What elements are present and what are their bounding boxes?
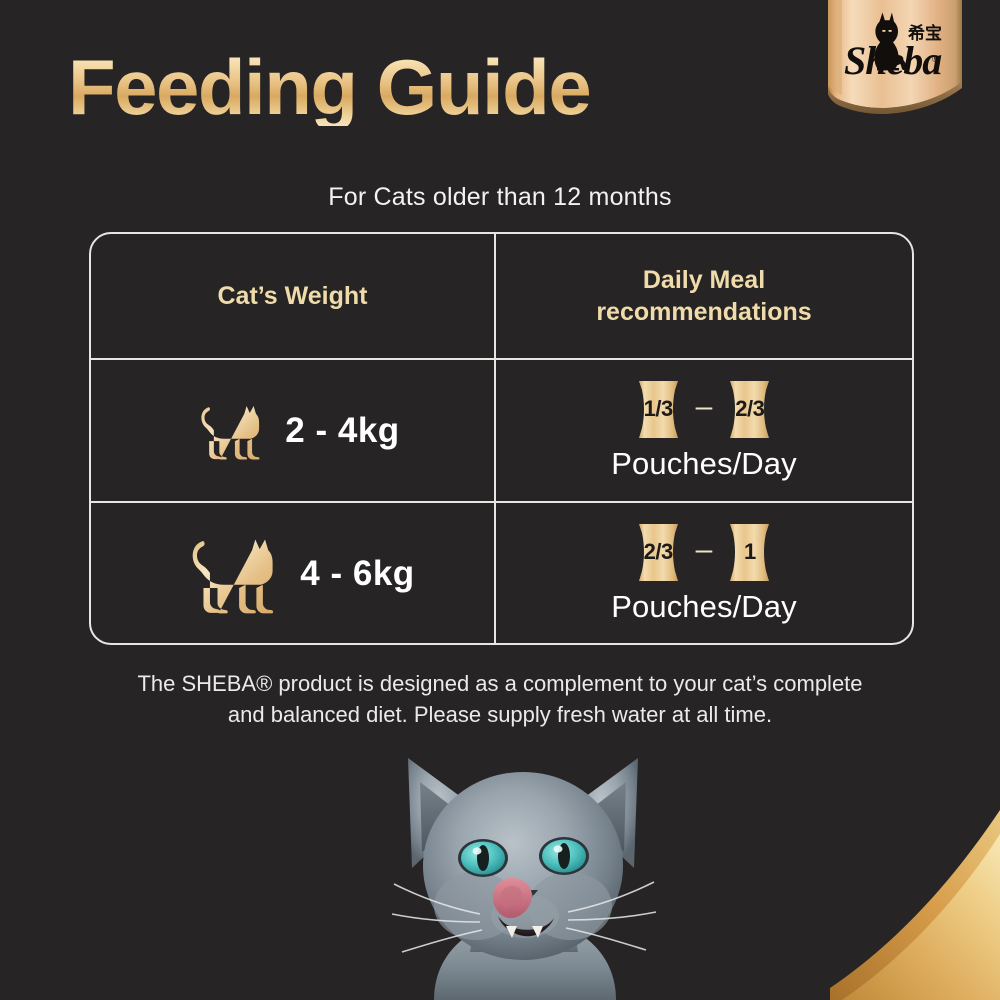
pouch-icon-max-row1: 2/3 (726, 380, 773, 439)
cell-meals-row2: 2/3 – 1 Pouches/Day (494, 503, 912, 644)
column-header-weight: Cat’s Weight (217, 280, 367, 312)
disclaimer-text: The SHEBA® product is designed as a comp… (0, 668, 1000, 730)
gold-swoosh-accent (830, 810, 1000, 1000)
pouch-label-min-row2: 2/3 (644, 539, 673, 565)
sheba-logo-banner: Sheba ® 希宝 (826, 0, 962, 120)
cat-photo (372, 738, 672, 1000)
pouch-label-min-row1: 1/3 (644, 396, 673, 422)
svg-text:Sheba: Sheba (844, 38, 942, 83)
column-header-meals-line2: recommendations (596, 296, 811, 328)
table-header-row: Cat’s Weight Daily Meal recommendations (91, 234, 912, 358)
large-cat-icon (170, 534, 278, 614)
disclaimer-line-1: The SHEBA® product is designed as a comp… (0, 668, 1000, 699)
cell-meals-row1: 1/3 – 2/3 Pouches/Day (494, 360, 912, 501)
page-subtitle: For Cats older than 12 months (0, 183, 1000, 212)
table-row: 4 - 6kg 2/3 – 1 (91, 501, 912, 644)
pouch-group-row1: 1/3 – 2/3 (635, 380, 774, 439)
feeding-table: Cat’s Weight Daily Meal recommendations (89, 232, 914, 645)
page-title: Feeding Guide (68, 48, 590, 126)
cat-eye-left (458, 839, 508, 877)
svg-text:希宝: 希宝 (908, 23, 942, 44)
cell-weight-row2: 4 - 6kg (91, 503, 494, 644)
column-header-meals-line1: Daily Meal (596, 264, 811, 296)
pouch-range-separator-row1: – (696, 392, 713, 422)
pouch-icon-min-row2: 2/3 (635, 523, 682, 582)
weight-value-row1: 2 - 4kg (285, 411, 399, 451)
column-header-meals: Daily Meal recommendations (596, 264, 811, 328)
pouch-caption-row2: Pouches/Day (611, 589, 796, 625)
pouch-group-row2: 2/3 – 1 (635, 523, 774, 582)
pouch-range-separator-row2: – (696, 535, 713, 565)
header-cell-weight: Cat’s Weight (91, 234, 494, 358)
weight-value-row2: 4 - 6kg (300, 554, 414, 594)
pouch-label-max-row2: 1 (744, 539, 756, 565)
table-row: 2 - 4kg (91, 358, 912, 501)
small-cat-icon (185, 402, 263, 460)
pouch-label-max-row1: 2/3 (735, 396, 764, 422)
sheba-logo-icon: Sheba ® 希宝 (826, 0, 976, 126)
feeding-guide-page: Sheba ® 希宝 Feeding Guide For Cats older … (0, 0, 1000, 1000)
svg-text:®: ® (932, 54, 939, 64)
disclaimer-line-2: and balanced diet. Please supply fresh w… (0, 699, 1000, 730)
header-cell-meals: Daily Meal recommendations (494, 234, 912, 358)
cell-weight-row1: 2 - 4kg (91, 360, 494, 501)
pouch-icon-max-row2: 1 (726, 523, 773, 582)
pouch-caption-row1: Pouches/Day (611, 446, 796, 482)
cat-eye-right (539, 837, 589, 875)
pouch-icon-min-row1: 1/3 (635, 380, 682, 439)
